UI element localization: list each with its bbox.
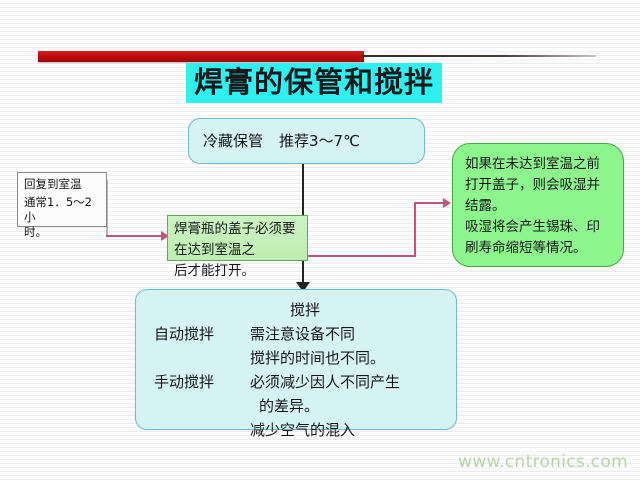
node-mixing-row-auto-line2: 搅拌的时间也不同。 xyxy=(136,346,456,370)
node-mixing: 搅拌 自动搅拌 需注意设备不同 搅拌的时间也不同。 手动搅拌 必须减少因人不同产… xyxy=(135,289,457,430)
node-lid-rule-line1: 焊膏瓶的盖子必须要在达到室温之 xyxy=(174,219,303,261)
watermark: www.cntronics.com xyxy=(458,452,628,472)
node-moisture-warning-line4: 吸湿将会产生锡珠、印 xyxy=(465,217,617,238)
node-room-temperature: 回复到室温 通常1．5～2小 时。 xyxy=(17,172,107,227)
node-moisture-warning: 如果在未达到室温之前 打开盖子，则会吸湿并 结露。 吸湿将会产生锡珠、印 刷寿命… xyxy=(452,143,624,267)
node-room-temperature-line2: 时。 xyxy=(24,225,101,240)
node-mixing-row-manual: 手动搅拌 必须减少因人不同产生 xyxy=(136,370,456,394)
connector-lid-to-warning-horizontal xyxy=(307,255,415,257)
page-title-text: 焊膏的保管和搅拌 xyxy=(194,65,434,99)
node-cold-storage-value: 推荐3～7℃ xyxy=(279,131,360,151)
node-mixing-title: 搅拌 xyxy=(154,298,456,322)
node-moisture-warning-line1: 如果在未达到室温之前 xyxy=(465,154,617,175)
title-thin-rule xyxy=(362,55,596,57)
node-cold-storage-label: 冷藏保管 xyxy=(203,131,263,151)
node-cold-storage: 冷藏保管 推荐3～7℃ xyxy=(188,118,425,164)
connector-lid-to-warning-arrowhead xyxy=(443,198,451,208)
node-mixing-row-auto: 自动搅拌 需注意设备不同 xyxy=(136,322,456,346)
node-moisture-warning-line2: 打开盖子，则会吸湿并 xyxy=(465,175,617,196)
page-title: 焊膏的保管和搅拌 xyxy=(186,63,442,103)
connector-roomtemp-to-lid-line xyxy=(106,235,164,237)
node-mixing-row-auto-label: 自动搅拌 xyxy=(154,322,250,346)
node-mixing-row-manual-label: 手动搅拌 xyxy=(154,370,250,394)
connector-lid-to-warning-horizontal-top xyxy=(414,202,446,204)
title-red-bar xyxy=(38,51,364,62)
node-mixing-row-auto-line1: 需注意设备不同 xyxy=(250,322,456,346)
node-mixing-row-manual-line3: 减少空气的混入 xyxy=(136,418,456,442)
node-mixing-row-manual-line1: 必须减少因人不同产生 xyxy=(250,370,456,394)
connector-lid-to-warning-vertical xyxy=(414,203,416,257)
node-room-temperature-heading: 回复到室温 xyxy=(24,177,101,192)
node-mixing-row-manual-line2: 的差异。 xyxy=(136,394,456,418)
node-room-temperature-line1: 通常1．5～2小 xyxy=(24,195,101,225)
node-lid-rule: 焊膏瓶的盖子必须要在达到室温之 后才能打开。 xyxy=(167,215,308,261)
slide-canvas: 焊膏的保管和搅拌 冷藏保管 推荐3～7℃ 回复到室温 通常1．5～2小 时。 焊… xyxy=(0,0,640,480)
node-moisture-warning-line5: 刷寿命缩短等情况。 xyxy=(465,238,617,259)
node-lid-rule-line2: 后才能打开。 xyxy=(174,261,303,282)
node-moisture-warning-line3: 结露。 xyxy=(465,196,617,217)
